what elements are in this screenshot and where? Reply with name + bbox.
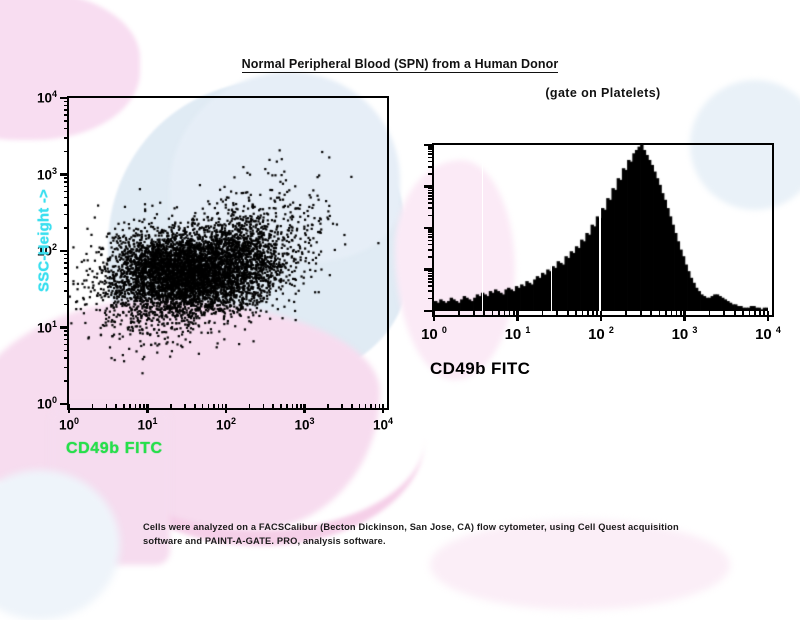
figure-caption: Cells were analyzed on a FACSCalibur (Be…	[143, 521, 683, 548]
scatter-x-ticklabel: 103	[283, 416, 327, 433]
scatter-plot-frame	[67, 96, 389, 410]
histogram-x-ticklabel: 10 3	[661, 325, 709, 343]
histogram-x-ticklabel: 10 0	[410, 325, 458, 343]
figure-subtitle: (gate on Platelets)	[418, 86, 788, 100]
histogram-x-axis-label: CD49b FITC	[430, 359, 530, 379]
histogram-frame	[432, 143, 774, 317]
histogram-gate-marker	[599, 145, 601, 311]
scatter-x-ticklabel: 101	[126, 416, 170, 433]
scatter-x-ticklabel: 102	[204, 416, 248, 433]
watermark-blue-bottom-left	[0, 470, 120, 620]
histogram-x-ticklabel: 10 4	[744, 325, 792, 343]
histogram-gate-marker	[482, 145, 484, 311]
figure-canvas: Normal Peripheral Blood (SPN) from a Hum…	[0, 0, 800, 600]
scatter-x-ticklabel: 104	[361, 416, 405, 433]
histogram-x-ticklabel: 10 2	[577, 325, 625, 343]
scatter-y-ticklabel: 104	[11, 89, 57, 106]
histogram-x-ticklabel: 10 1	[494, 325, 542, 343]
figure-title: Normal Peripheral Blood (SPN) from a Hum…	[0, 57, 800, 71]
scatter-plot-y-axis-label: SSC-Height ->	[36, 151, 53, 331]
scatter-plot-x-axis-label: CD49b FITC	[66, 440, 163, 458]
histogram-gate-marker	[551, 145, 553, 311]
figure-title-text: Normal Peripheral Blood (SPN) from a Hum…	[242, 57, 559, 73]
scatter-y-ticklabel: 100	[11, 395, 57, 412]
scatter-x-ticklabel: 100	[47, 416, 91, 433]
